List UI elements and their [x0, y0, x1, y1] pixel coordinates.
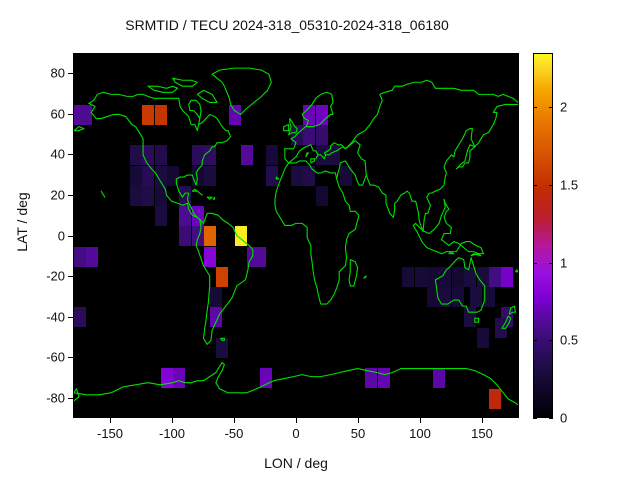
heatmap-cell — [427, 287, 439, 307]
heatmap-cell — [210, 307, 222, 327]
heatmap-cell — [402, 267, 414, 287]
heatmap-cell — [86, 247, 98, 267]
figure-root: SRMTID / TECU 2024-318_05310-2024-318_06… — [0, 0, 640, 480]
y-tick — [68, 154, 73, 155]
heatmap-cell — [452, 267, 464, 287]
colorbar-tick — [549, 107, 553, 108]
heatmap-cell — [173, 368, 185, 388]
heatmap-cell — [477, 267, 489, 287]
y-tick-label: -40 — [31, 310, 65, 325]
y-tick-label: -60 — [31, 350, 65, 365]
heatmap-cell — [303, 166, 315, 186]
heatmap-cell — [142, 105, 154, 125]
heatmap-cell — [192, 145, 204, 165]
heatmap-cell — [192, 166, 204, 186]
colorbar-tick — [549, 263, 553, 264]
colorbar-tick — [549, 185, 553, 186]
y-tick-label: 60 — [31, 107, 65, 122]
heatmap-cell — [192, 206, 204, 226]
colorbar-gradient — [534, 54, 552, 417]
heatmap-cell — [210, 287, 222, 307]
colorbar-tick-label: 1 — [560, 256, 567, 271]
heatmap-cell — [439, 287, 451, 307]
colorbar-tick-label: 2 — [560, 100, 567, 115]
heatmap-cell — [155, 186, 167, 206]
colorbar-tick — [533, 418, 537, 419]
heatmap-cell — [464, 307, 476, 327]
heatmap-cell — [235, 226, 247, 246]
y-axis-label: LAT / deg — [14, 162, 30, 282]
x-tick-label: 0 — [292, 426, 299, 441]
colorbar-tick-label: 0.5 — [560, 333, 578, 348]
heatmap-cell — [328, 145, 340, 165]
heatmap-cell — [142, 145, 154, 165]
heatmap-cell — [291, 125, 303, 145]
heatmap-cell — [501, 267, 513, 287]
x-tick-label: 50 — [351, 426, 365, 441]
heatmap-cell — [464, 267, 476, 287]
heatmap-cell — [80, 105, 92, 125]
x-tick — [296, 418, 297, 423]
heatmap-cell — [142, 166, 154, 186]
heatmap-cell — [142, 186, 154, 206]
heatmap-cell — [192, 226, 204, 246]
heatmap-cell — [316, 125, 328, 145]
y-tick — [68, 357, 73, 358]
heatmap-cell — [477, 328, 489, 348]
heatmap-cell — [161, 368, 173, 388]
heatmap-cell — [204, 166, 216, 186]
heatmap-cell — [433, 368, 445, 388]
x-tick — [234, 418, 235, 423]
y-tick — [68, 317, 73, 318]
y-tick-label: 40 — [31, 147, 65, 162]
heatmap-cell — [74, 307, 86, 327]
heatmap-cell — [179, 226, 191, 246]
colorbar-tick-label: 1.5 — [560, 178, 578, 193]
y-tick — [68, 195, 73, 196]
y-tick-label: -20 — [31, 269, 65, 284]
heatmap-cell — [316, 105, 328, 125]
heatmap-cell — [204, 145, 216, 165]
heatmap-cell — [155, 145, 167, 165]
y-tick — [68, 73, 73, 74]
heatmap-cell — [216, 267, 228, 287]
map-plot-area[interactable] — [73, 53, 519, 418]
heatmap-cell — [241, 145, 253, 165]
heatmap-cell — [303, 125, 315, 145]
heatmap-cell — [254, 247, 266, 267]
page-title: SRMTID / TECU 2024-318_05310-2024-318_06… — [0, 17, 574, 33]
x-tick — [420, 418, 421, 423]
y-tick — [68, 114, 73, 115]
colorbar-tick — [533, 340, 537, 341]
heatmap-cell — [179, 186, 191, 206]
x-tick-label: 100 — [409, 426, 431, 441]
heatmap-cells-layer — [74, 54, 518, 417]
heatmap-cell — [452, 287, 464, 307]
colorbar-tick — [549, 418, 553, 419]
x-tick-label: -100 — [159, 426, 185, 441]
colorbar-tick — [533, 107, 537, 108]
heatmap-cell — [229, 105, 241, 125]
x-tick — [172, 418, 173, 423]
heatmap-cell — [204, 226, 216, 246]
y-tick — [68, 398, 73, 399]
colorbar-tick — [549, 340, 553, 341]
x-tick-label: -50 — [225, 426, 244, 441]
y-tick-label: -80 — [31, 391, 65, 406]
y-tick — [68, 276, 73, 277]
x-tick — [110, 418, 111, 423]
x-tick — [358, 418, 359, 423]
colorbar-tick-label: 0 — [560, 411, 567, 426]
x-tick — [482, 418, 483, 423]
heatmap-cell — [470, 287, 482, 307]
heatmap-cell — [489, 389, 501, 409]
heatmap-cell — [130, 145, 142, 165]
heatmap-cell — [74, 247, 86, 267]
heatmap-cell — [266, 145, 278, 165]
x-tick-label: -150 — [97, 426, 123, 441]
heatmap-cell — [489, 267, 501, 287]
y-tick-label: 20 — [31, 188, 65, 203]
heatmap-cell — [155, 105, 167, 125]
heatmap-cell — [155, 166, 167, 186]
x-axis-label: LON / deg — [73, 455, 519, 471]
heatmap-cell — [340, 166, 352, 186]
heatmap-cell — [365, 368, 377, 388]
heatmap-cell — [167, 166, 179, 186]
heatmap-cell — [427, 267, 439, 287]
heatmap-cell — [303, 105, 315, 125]
heatmap-cell — [179, 206, 191, 226]
heatmap-cell — [439, 267, 451, 287]
heatmap-cell — [130, 186, 142, 206]
heatmap-cell — [260, 368, 272, 388]
colorbar-tick — [533, 185, 537, 186]
heatmap-cell — [130, 166, 142, 186]
heatmap-cell — [415, 267, 427, 287]
y-tick — [68, 236, 73, 237]
y-tick-label: 80 — [31, 66, 65, 81]
heatmap-cell — [495, 318, 507, 338]
heatmap-cell — [316, 145, 328, 165]
heatmap-cell — [266, 166, 278, 186]
heatmap-cell — [73, 105, 80, 125]
heatmap-cell — [291, 166, 303, 186]
y-tick-label: 0 — [31, 229, 65, 244]
colorbar-tick — [533, 263, 537, 264]
heatmap-cell — [483, 287, 495, 307]
heatmap-cell — [155, 206, 167, 226]
heatmap-cell — [204, 247, 216, 267]
x-tick-label: 150 — [471, 426, 493, 441]
heatmap-cell — [378, 368, 390, 388]
heatmap-cell — [216, 338, 228, 358]
heatmap-cell — [316, 186, 328, 206]
